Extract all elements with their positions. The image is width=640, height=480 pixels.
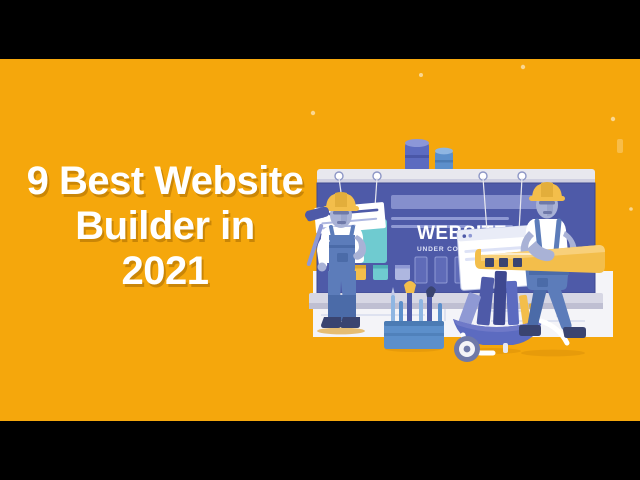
video-thumbnail-frame: 9 Best Website Builder in 2021: [0, 0, 640, 480]
page-title: 9 Best Website Builder in 2021: [0, 159, 330, 294]
title-line-2: Builder in: [0, 204, 330, 249]
construction-illustration: WEBSITE UNDER CONSTRUCTION: [295, 59, 640, 421]
letterbox-bar-top: [0, 0, 640, 59]
billboard-top-rail: [317, 169, 595, 183]
thumbnail-stage: 9 Best Website Builder in 2021: [0, 59, 640, 421]
title-line-1: 9 Best Website: [0, 159, 330, 204]
title-line-3: 2021: [0, 249, 330, 294]
paint-cans: [405, 139, 453, 171]
letterbox-bar-bottom: [0, 421, 640, 480]
